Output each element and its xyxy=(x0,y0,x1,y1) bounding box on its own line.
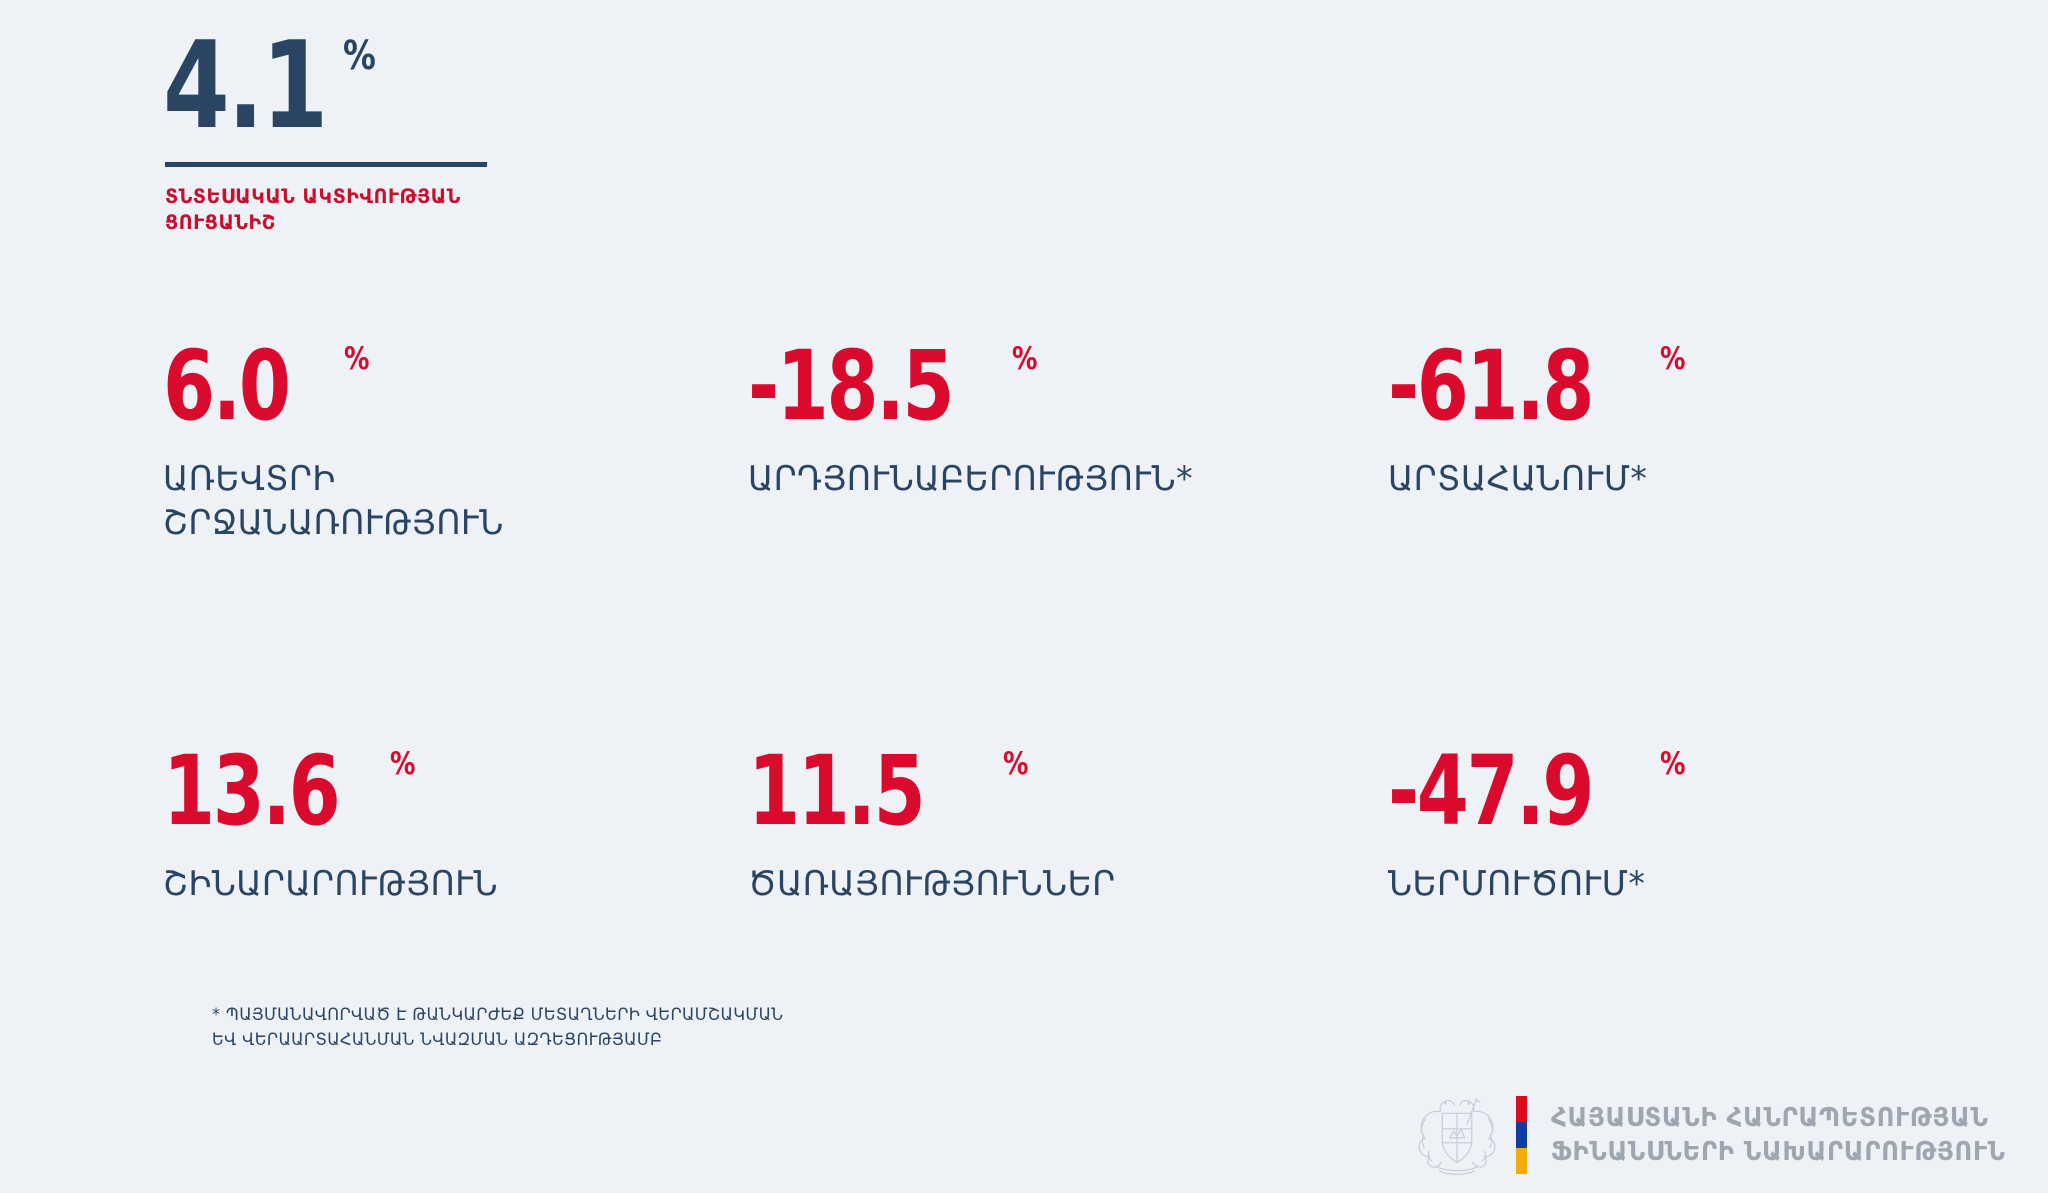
stat-value-row: -61.8 % xyxy=(1388,340,1923,436)
stat-label: ԱՐՏԱՀԱՆՈՒՄ* xyxy=(1388,458,1907,502)
stat-label: ԱՐԴՅՈՒՆԱԲԵՐՈՒԹՅՈՒՆ* xyxy=(748,458,1306,502)
stat-label: ԾԱՌԱՅՈՒԹՅՈՒՆՆԵՐ xyxy=(748,863,1306,907)
stat-cell-imports: -47.9 % ՆԵՐՄՈՒԾՈՒՄ* xyxy=(1323,745,1923,907)
stat-cell-industry: -18.5 % ԱՐԴՅՈՒՆԱԲԵՐՈՒԹՅՈՒՆ* xyxy=(723,340,1323,545)
armenia-flag-bar-icon xyxy=(1516,1096,1527,1174)
headline-percent-symbol: % xyxy=(343,36,376,76)
stat-value-row: 13.6 % xyxy=(163,745,723,841)
stat-value: -47.9 xyxy=(1388,745,1592,837)
flag-stripe-orange xyxy=(1516,1148,1527,1174)
headline-label: ՏՆՏԵՍԱԿԱՆ ԱԿՏԻՎՈՒԹՅԱՆ ՑՈՒՑԱՆԻՇ xyxy=(165,184,514,235)
stat-cell-exports: -61.8 % ԱՐՏԱՀԱՆՈՒՄ* xyxy=(1323,340,1923,545)
stat-cell-construction: 13.6 % ՇԻՆԱՐԱՐՈՒԹՅՈՒՆ xyxy=(163,745,723,907)
stat-value: 13.6 xyxy=(163,745,338,837)
armenia-coat-of-arms-icon xyxy=(1416,1092,1498,1178)
stat-cell-trade-turnover: 6.0 % ԱՌԵՎՏՐԻ ՇՐՋԱՆԱՌՈՒԹՅՈՒՆ xyxy=(163,340,723,545)
footnote: * ՊԱՅՄԱՆԱՎՈՐՎԱԾ Է ԹԱՆԿԱՐԺԵՔ ՄԵՏԱՂՆԵՐԻ ՎԵ… xyxy=(212,1002,783,1052)
stat-value: 6.0 xyxy=(163,340,289,432)
stat-value-row: 6.0 % xyxy=(163,340,723,436)
headline-block: 4.1 % ՏՆՏԵՍԱԿԱՆ ԱԿՏԻՎՈՒԹՅԱՆ ՑՈՒՑԱՆԻՇ xyxy=(163,30,563,235)
stat-label: ԱՌԵՎՏՐԻ ՇՐՋԱՆԱՌՈՒԹՅՈՒՆ xyxy=(163,458,706,545)
stat-value-row: -18.5 % xyxy=(748,340,1323,436)
stat-row-top: 6.0 % ԱՌԵՎՏՐԻ ՇՐՋԱՆԱՌՈՒԹՅՈՒՆ -18.5 % ԱՐԴ… xyxy=(163,340,1923,545)
stat-value: -18.5 xyxy=(748,340,952,432)
infographic-page: 4.1 % ՏՆՏԵՍԱԿԱՆ ԱԿՏԻՎՈՒԹՅԱՆ ՑՈՒՑԱՆԻՇ 6.0… xyxy=(0,0,2048,1193)
stat-label: ՇԻՆԱՐԱՐՈՒԹՅՈՒՆ xyxy=(163,863,706,907)
stat-row-bottom: 13.6 % ՇԻՆԱՐԱՐՈՒԹՅՈՒՆ 11.5 % ԾԱՌԱՅՈՒԹՅՈՒ… xyxy=(163,745,1923,907)
stat-value-row: -47.9 % xyxy=(1388,745,1923,841)
ministry-name: ՀԱՅԱՍՏԱՆԻ ՀԱՆՐԱՊԵՏՈՒԹՅԱՆ ՖԻՆԱՆՍՆԵՐԻ ՆԱԽԱ… xyxy=(1551,1101,2006,1170)
stat-percent-symbol: % xyxy=(1660,344,1685,375)
stat-percent-symbol: % xyxy=(1012,344,1037,375)
headline-value-row: 4.1 % xyxy=(163,30,563,148)
stat-percent-symbol: % xyxy=(390,749,415,780)
stat-percent-symbol: % xyxy=(1660,749,1685,780)
stat-cell-services: 11.5 % ԾԱՌԱՅՈՒԹՅՈՒՆՆԵՐ xyxy=(723,745,1323,907)
stat-value-row: 11.5 % xyxy=(748,745,1323,841)
flag-stripe-red xyxy=(1516,1096,1527,1122)
stat-value: 11.5 xyxy=(748,745,923,837)
headline-divider xyxy=(165,162,487,167)
footer-branding: ՀԱՅԱՍՏԱՆԻ ՀԱՆՐԱՊԵՏՈՒԹՅԱՆ ՖԻՆԱՆՍՆԵՐԻ ՆԱԽԱ… xyxy=(1416,1092,2030,1178)
stat-label: ՆԵՐՄՈՒԾՈՒՄ* xyxy=(1388,863,1907,907)
stat-value: -61.8 xyxy=(1388,340,1592,432)
stat-percent-symbol: % xyxy=(344,344,369,375)
stat-percent-symbol: % xyxy=(1003,749,1028,780)
headline-number: 4.1 xyxy=(163,30,326,144)
flag-stripe-blue xyxy=(1516,1122,1527,1148)
stat-grid: 6.0 % ԱՌԵՎՏՐԻ ՇՐՋԱՆԱՌՈՒԹՅՈՒՆ -18.5 % ԱՐԴ… xyxy=(163,340,1923,907)
